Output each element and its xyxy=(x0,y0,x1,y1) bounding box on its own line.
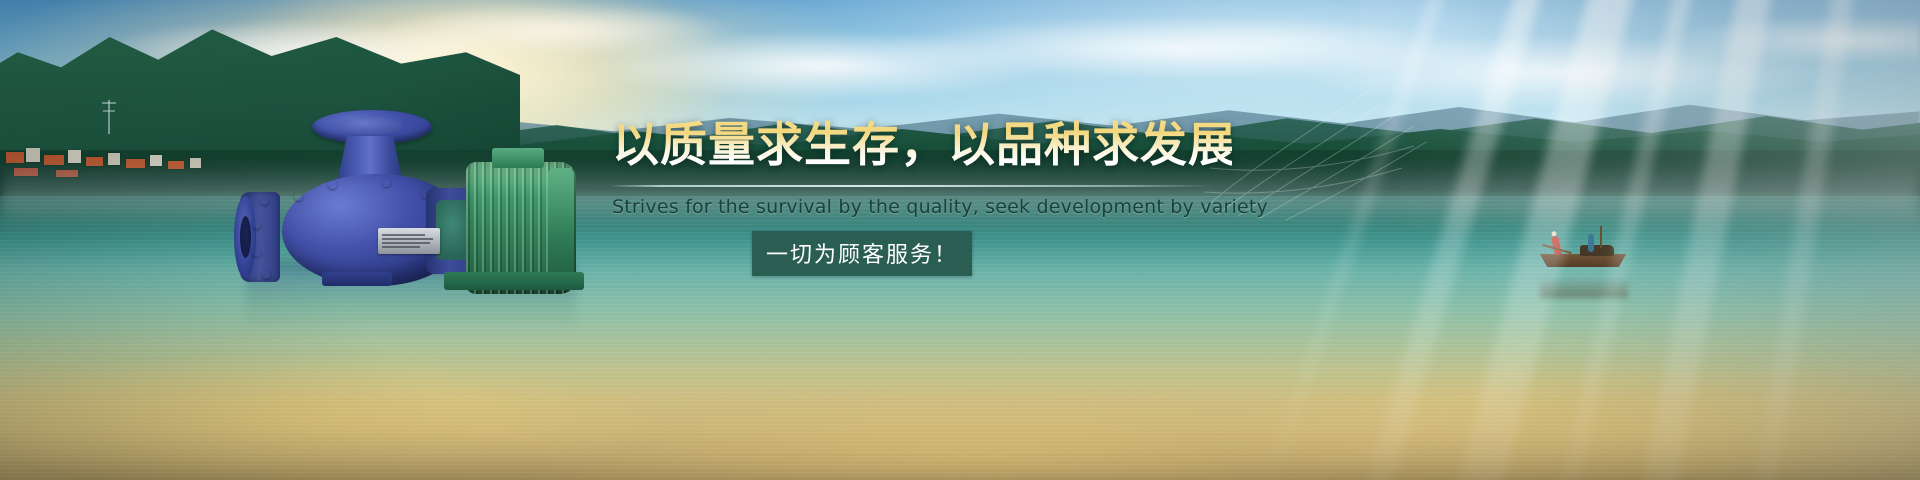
motor-end-cap xyxy=(548,168,574,288)
suction-flange-face xyxy=(234,196,256,278)
banner-subtitle: Strives for the survival by the quality,… xyxy=(612,196,1232,218)
base-frame xyxy=(444,272,584,290)
flange-bolt xyxy=(252,220,261,229)
boat-mast xyxy=(1600,226,1602,248)
service-slogan-badge: 一切为顾客服务！ xyxy=(752,231,972,276)
flange-bolt xyxy=(260,196,269,205)
fishing-boat xyxy=(1536,232,1630,276)
motor-terminal-box xyxy=(492,148,544,168)
centrifugal-pump xyxy=(230,96,590,296)
flange-bolt xyxy=(382,178,391,187)
riverside-village xyxy=(0,128,240,188)
flange-bolt xyxy=(328,180,337,189)
nameplate xyxy=(378,228,440,254)
fisherman-second xyxy=(1588,234,1594,252)
transmission-pylon xyxy=(108,100,110,134)
flange-bolt xyxy=(294,192,303,201)
banner-copy: 以质量求生存，以品种求发展 Strives for the survival b… xyxy=(612,118,1232,276)
flange-bolt xyxy=(262,270,271,279)
fisherman-red-shirt xyxy=(1551,235,1562,255)
base-frame-front xyxy=(322,272,392,286)
flange-bolt xyxy=(252,248,261,257)
banner-headline: 以质量求生存，以品种求发展 xyxy=(612,118,1232,173)
headline-divider xyxy=(612,185,1212,187)
boat-reflection xyxy=(1540,276,1628,298)
hero-banner: 以质量求生存，以品种求发展 Strives for the survival b… xyxy=(0,0,1920,480)
boat-cargo xyxy=(1580,245,1614,256)
